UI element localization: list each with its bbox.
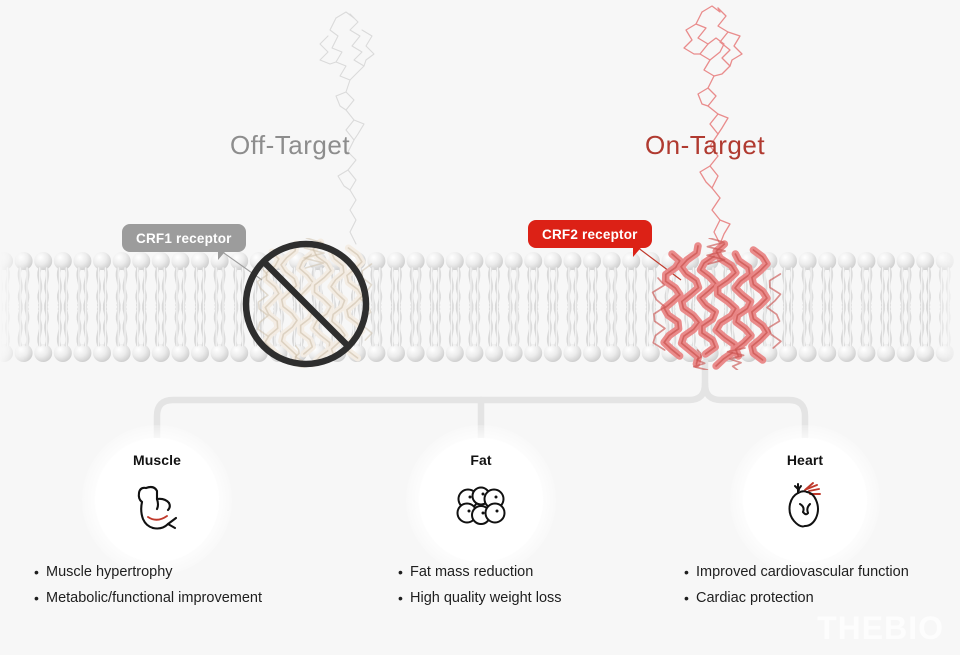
crf1-receptor-badge[interactable]: CRF1 receptor — [122, 224, 246, 252]
off-target-title: Off-Target — [230, 130, 350, 161]
anatomical-heart-icon — [774, 474, 836, 536]
outcome-label-fat: Fat — [470, 452, 491, 468]
bullet-text: Fat mass reduction — [410, 561, 533, 583]
outcome-label-heart: Heart — [787, 452, 823, 468]
bullet-list-heart: • Improved cardiovascular function • Car… — [684, 561, 909, 613]
flexed-bicep-icon — [126, 474, 188, 536]
bullet-dot-icon: • — [398, 561, 410, 583]
bullet-text: Muscle hypertrophy — [46, 561, 173, 583]
bullet-item: • High quality weight loss — [398, 587, 562, 609]
bullet-item: • Improved cardiovascular function — [684, 561, 909, 583]
watermark: THEBIO — [817, 610, 944, 647]
bullet-text: Metabolic/functional improvement — [46, 587, 262, 609]
bullet-item: • Metabolic/functional improvement — [34, 587, 262, 609]
bullet-dot-icon: • — [34, 561, 46, 583]
crf2-receptor-protein — [640, 238, 790, 370]
outcome-label-muscle: Muscle — [133, 452, 181, 468]
bullet-item: • Muscle hypertrophy — [34, 561, 262, 583]
bullet-dot-icon: • — [684, 587, 696, 609]
bullet-text: High quality weight loss — [410, 587, 562, 609]
on-target-title: On-Target — [645, 130, 765, 161]
outcome-circle-heart[interactable]: Heart — [743, 438, 867, 562]
outcome-circle-fat[interactable]: Fat — [419, 438, 543, 562]
crf2-receptor-badge[interactable]: CRF2 receptor — [528, 220, 652, 248]
bullet-text: Cardiac protection — [696, 587, 814, 609]
bullet-dot-icon: • — [398, 587, 410, 609]
bullet-text: Improved cardiovascular function — [696, 561, 909, 583]
prohibition-icon — [238, 236, 374, 372]
off-target-ligand — [300, 0, 410, 250]
bullet-item: • Fat mass reduction — [398, 561, 562, 583]
bullet-list-fat: • Fat mass reduction • High quality weig… — [398, 561, 562, 613]
bullet-list-muscle: • Muscle hypertrophy • Metabolic/functio… — [34, 561, 262, 613]
outcome-circle-muscle[interactable]: Muscle — [95, 438, 219, 562]
lipid-bilayer — [0, 252, 960, 362]
bullet-dot-icon: • — [684, 561, 696, 583]
bullet-item: • Cardiac protection — [684, 587, 909, 609]
diagram-canvas: CRF1 receptor CRF2 receptor Off-Target O… — [0, 0, 960, 655]
bullet-dot-icon: • — [34, 587, 46, 609]
fat-cells-icon — [450, 474, 512, 536]
